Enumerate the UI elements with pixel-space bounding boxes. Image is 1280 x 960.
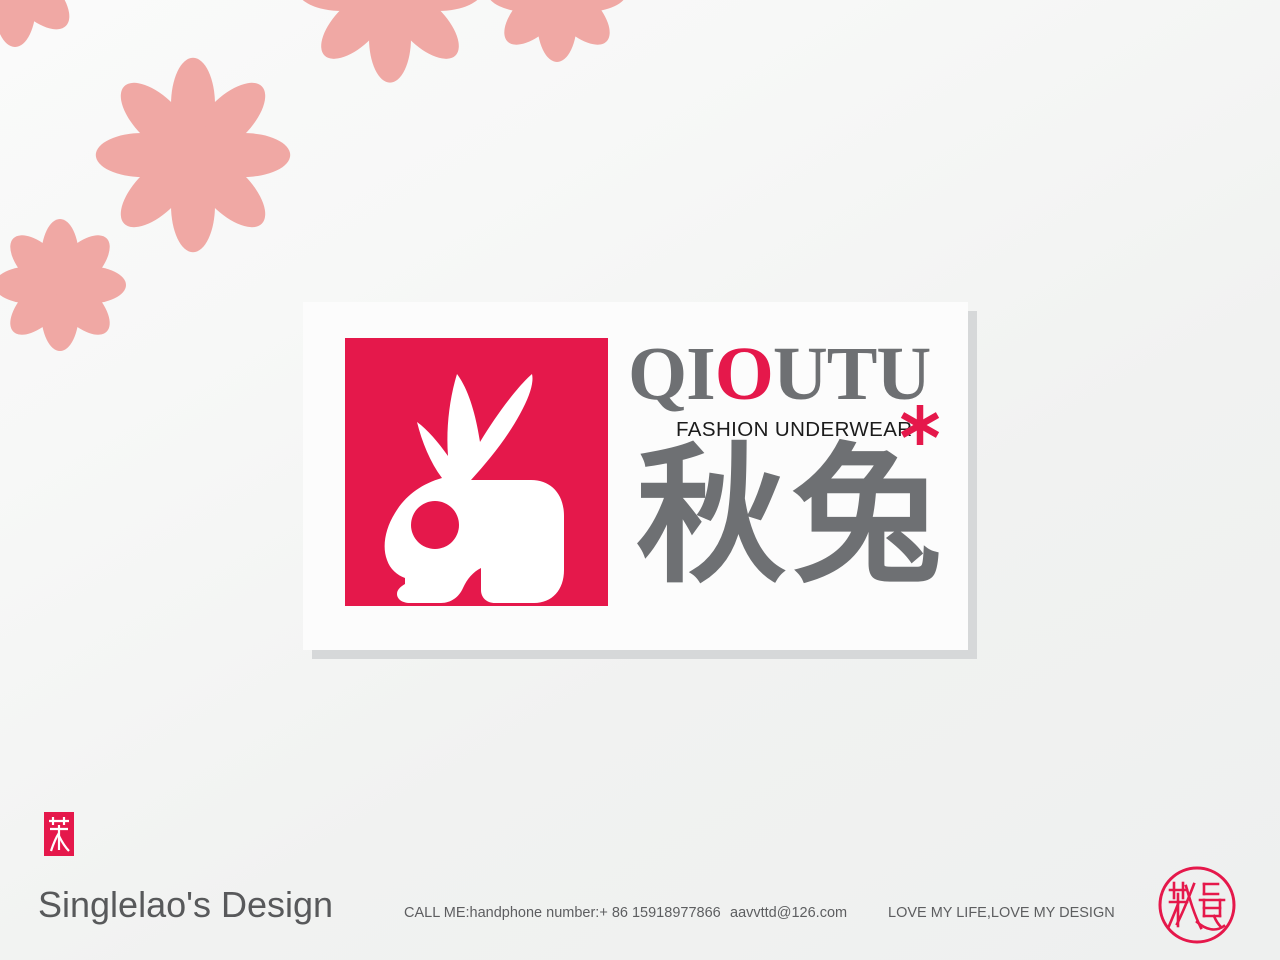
logo-typography-block: QIOUTU FASHION UNDERWEAR 秋兔 — [628, 324, 948, 624]
designer-name: Singlelao's Design — [38, 884, 333, 926]
flower-petal — [388, 0, 470, 70]
flower-petal — [191, 153, 277, 239]
flower-petal — [47, 272, 121, 346]
flower-petal — [487, 0, 557, 12]
flower-pattern-decoration — [0, 0, 640, 300]
flower-petal — [543, 0, 621, 6]
flower-petal — [537, 0, 577, 62]
logo-chinese-name: 秋兔 — [636, 442, 948, 592]
flower-petal — [171, 174, 215, 252]
flower-petal — [0, 272, 73, 346]
flower-petal — [96, 133, 174, 177]
flower-petal — [557, 0, 627, 12]
flower-center — [162, 124, 224, 186]
flower-petal — [543, 0, 621, 56]
flower-petal — [369, 9, 411, 83]
flower-center — [360, 0, 420, 20]
flower-petal — [60, 266, 126, 304]
wordmark-highlight-letter: O — [715, 332, 773, 416]
designer-slogan: LOVE MY LIFE,LOVE MY DESIGN — [888, 904, 1115, 922]
wordmark: QIOUTU — [628, 336, 930, 412]
flower-petal — [409, 0, 483, 11]
poster-canvas: QIOUTU FASHION UNDERWEAR 秋兔 Singlel — [0, 0, 1280, 960]
flower-petal — [212, 133, 290, 177]
rabbit-icon — [345, 338, 608, 606]
flower-petal — [493, 0, 571, 6]
logo-mark-tile — [345, 338, 608, 606]
flower-petal — [297, 0, 371, 11]
flower-petal — [191, 71, 277, 157]
flower-petal — [47, 225, 121, 299]
qiutu-round-seal-icon — [1156, 864, 1238, 946]
flower-petal — [310, 0, 392, 70]
flower-petal — [41, 285, 79, 351]
flower-petal — [0, 225, 73, 299]
flower-petal — [109, 71, 195, 157]
logo-card: QIOUTU FASHION UNDERWEAR 秋兔 — [303, 302, 968, 650]
flower-petal — [171, 58, 215, 136]
flower-petal — [0, 0, 81, 41]
flower-petal — [0, 0, 36, 47]
flower-petal — [41, 219, 79, 285]
artist-seal-icon — [44, 812, 74, 856]
flower-petal — [493, 0, 571, 56]
flower-petal — [109, 153, 195, 239]
contact-phone: CALL ME:handphone number:+ 86 1591897786… — [404, 904, 721, 922]
wordmark-prefix: QI — [628, 332, 715, 416]
flower-petal — [0, 0, 30, 41]
flower-petal — [0, 266, 60, 304]
contact-email: aavvttd@126.com — [730, 904, 847, 922]
